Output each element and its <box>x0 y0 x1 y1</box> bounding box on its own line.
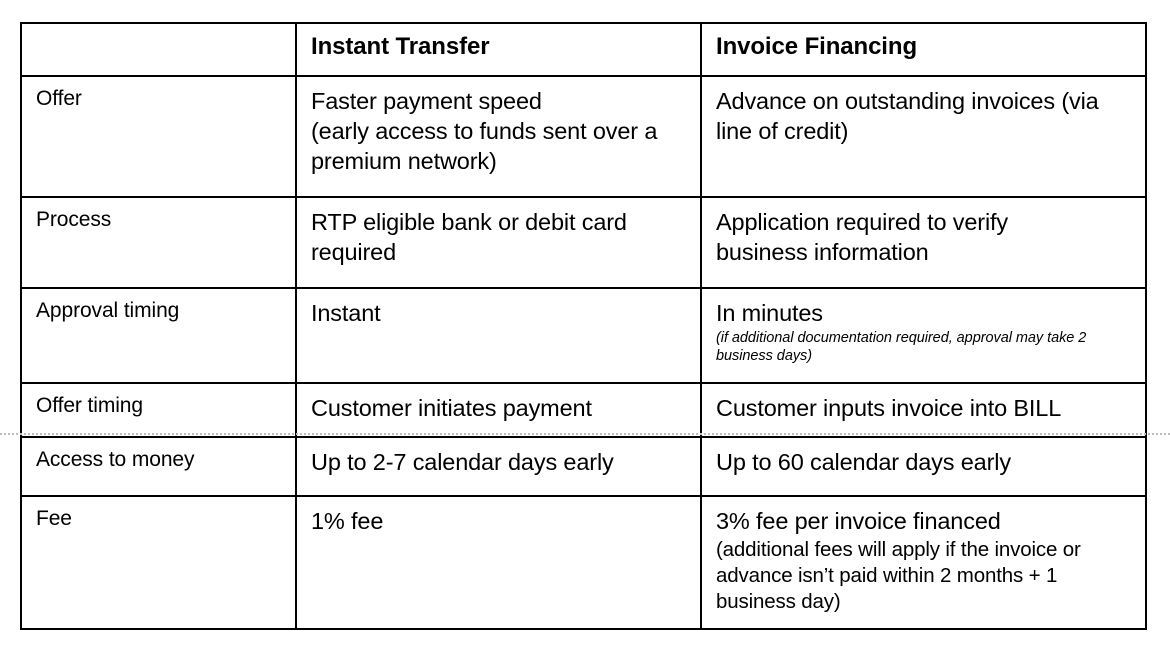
row-label-process: Process <box>36 208 111 231</box>
table-row: Offer Faster payment speed (early access… <box>21 76 1146 197</box>
cell-text-access-to-money-instant: Up to 2-7 calendar days early <box>311 447 686 477</box>
cell-note-approval-timing: (if additional documentation required, a… <box>716 329 1131 366</box>
row-label-approval-timing: Approval timing <box>36 299 179 322</box>
cell-line: Advance on outstanding invoices (via <box>716 86 1131 116</box>
cell-line: 3% fee per invoice financed <box>716 506 1131 536</box>
cell-access-to-money-invoice: Up to 60 calendar days early <box>701 437 1146 496</box>
cell-offer-instant: Faster payment speed (early access to fu… <box>296 76 701 197</box>
row-label-cell-offer-timing: Offer timing <box>21 383 296 437</box>
cell-text-fee-invoice: 3% fee per invoice financed <box>716 506 1131 536</box>
row-label-fee: Fee <box>36 507 72 530</box>
cell-line: Faster payment speed <box>311 86 686 116</box>
cell-text-offer-instant: Faster payment speed (early access to fu… <box>311 86 686 176</box>
row-label-offer: Offer <box>36 87 82 110</box>
row-label-access-to-money: Access to money <box>36 448 194 471</box>
cell-text-offer-invoice: Advance on outstanding invoices (via lin… <box>716 86 1131 146</box>
header-cell-blank <box>21 23 296 76</box>
cell-text-approval-timing-instant: Instant <box>311 298 686 328</box>
row-label-cell-fee: Fee <box>21 496 296 629</box>
table-row: Approval timing Instant In minutes (if a… <box>21 288 1146 383</box>
table-row: Access to money Up to 2-7 calendar days … <box>21 437 1146 496</box>
row-label-offer-timing: Offer timing <box>36 394 143 417</box>
cell-text-access-to-money-invoice: Up to 60 calendar days early <box>716 447 1131 477</box>
cell-process-invoice: Application required to verify business … <box>701 197 1146 288</box>
cell-text-process-instant: RTP eligible bank or debit card required <box>311 207 686 267</box>
header-label-instant-transfer: Instant Transfer <box>311 33 489 60</box>
table-row: Offer timing Customer initiates payment … <box>21 383 1146 437</box>
cell-text-approval-timing-invoice: In minutes <box>716 298 1131 328</box>
cell-note-fee: (additional fees will apply if the invoi… <box>716 537 1131 614</box>
cell-fee-instant: 1% fee <box>296 496 701 629</box>
cell-line: In minutes <box>716 298 1131 328</box>
cell-line: required <box>311 237 686 267</box>
row-label-cell-approval-timing: Approval timing <box>21 288 296 383</box>
cell-line: line of credit) <box>716 116 1131 146</box>
comparison-table-container: Instant Transfer Invoice Financing Offer… <box>20 22 1145 630</box>
cell-text-offer-timing-invoice: Customer inputs invoice into BILL <box>716 393 1131 423</box>
cell-access-to-money-instant: Up to 2-7 calendar days early <box>296 437 701 496</box>
cell-text-offer-timing-instant: Customer initiates payment <box>311 393 686 423</box>
row-label-cell-offer: Offer <box>21 76 296 197</box>
cell-line: 1% fee <box>311 506 686 536</box>
cell-fee-invoice: 3% fee per invoice financed (additional … <box>701 496 1146 629</box>
cell-offer-timing-invoice: Customer inputs invoice into BILL <box>701 383 1146 437</box>
cell-line: Customer inputs invoice into BILL <box>716 393 1131 423</box>
table-header-row: Instant Transfer Invoice Financing <box>21 23 1146 76</box>
cell-offer-timing-instant: Customer initiates payment <box>296 383 701 437</box>
page-break-rule <box>0 433 1170 435</box>
cell-line: (early access to funds sent over a <box>311 116 686 146</box>
cell-line: RTP eligible bank or debit card <box>311 207 686 237</box>
table-row: Fee 1% fee 3% fee per invoice financed (… <box>21 496 1146 629</box>
cell-text-fee-instant: 1% fee <box>311 506 686 536</box>
cell-approval-timing-instant: Instant <box>296 288 701 383</box>
header-cell-invoice-financing: Invoice Financing <box>701 23 1146 76</box>
cell-line: business information <box>716 237 1131 267</box>
table-row: Process RTP eligible bank or debit card … <box>21 197 1146 288</box>
cell-line: Up to 60 calendar days early <box>716 447 1131 477</box>
cell-line: premium network) <box>311 146 686 176</box>
header-label-invoice-financing: Invoice Financing <box>716 33 917 60</box>
cell-line: Customer initiates payment <box>311 393 686 423</box>
cell-text-process-invoice: Application required to verify business … <box>716 207 1131 267</box>
cell-line: Instant <box>311 298 686 328</box>
cell-approval-timing-invoice: In minutes (if additional documentation … <box>701 288 1146 383</box>
header-cell-instant-transfer: Instant Transfer <box>296 23 701 76</box>
cell-offer-invoice: Advance on outstanding invoices (via lin… <box>701 76 1146 197</box>
row-label-cell-access-to-money: Access to money <box>21 437 296 496</box>
cell-line: Application required to verify <box>716 207 1131 237</box>
comparison-table: Instant Transfer Invoice Financing Offer… <box>20 22 1147 630</box>
cell-process-instant: RTP eligible bank or debit card required <box>296 197 701 288</box>
row-label-cell-process: Process <box>21 197 296 288</box>
cell-line: Up to 2-7 calendar days early <box>311 447 686 477</box>
